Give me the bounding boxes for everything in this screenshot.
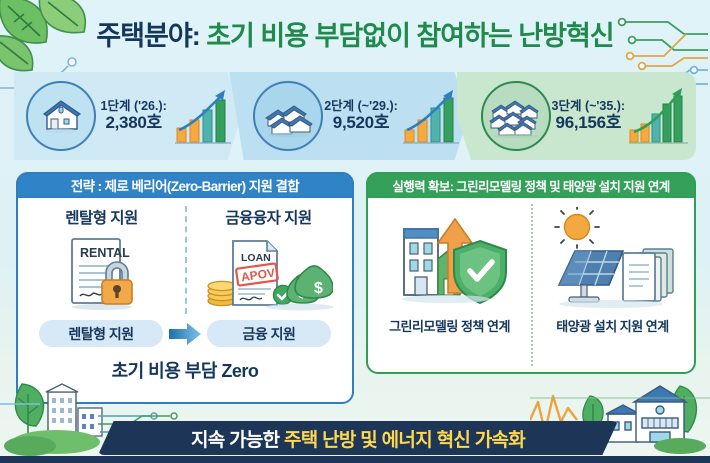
green-remodeling-column: 그린리모델링 정책 연계: [368, 200, 531, 372]
right-arrow-icon: [169, 323, 201, 345]
footer-text-accent: 주택 난방 및 에너지 혁신 가속화: [284, 430, 525, 451]
flow-from-pill[interactable]: 렌탈형 지원: [39, 320, 163, 347]
multiple-houses-icon: [253, 81, 323, 151]
loan-support-column: 금융융자 지원: [185, 200, 352, 318]
rental-document-lock-icon: RENTAL: [48, 233, 156, 313]
footer-banner: 지속 가능한 주택 난방 및 에너지 혁신 가속화: [98, 421, 618, 455]
stage-value: 2,380호: [94, 113, 173, 133]
single-house-icon: [26, 81, 96, 151]
loan-support-title: 금융융자 지원: [225, 206, 311, 228]
stage-label: 1단계 ('26.):: [94, 99, 173, 114]
stage-card-1: 1단계 ('26.): 2,380호: [14, 72, 241, 160]
stage-card-2: 2단계 (~'29.): 9,520호: [241, 72, 468, 160]
support-flow: 렌탈형 지원 금융 지원: [18, 320, 352, 347]
strategy-panel: 전략 : 제로 베리어(Zero-Barrier) 지원 결합 렌탈형 지원 R…: [16, 172, 354, 404]
stage-value: 96,156호: [549, 113, 628, 133]
green-remodeling-label: 그린리모델링 정책 연계: [389, 316, 510, 335]
strategy-panel-header: 전략 : 제로 베리어(Zero-Barrier) 지원 결합: [16, 172, 354, 198]
svg-text:RENTAL: RENTAL: [80, 246, 130, 260]
page-title: 주택분야: 초기 비용 부담없이 참여하는 난방혁신: [0, 14, 710, 53]
svg-text:$: $: [314, 280, 323, 297]
growth-bar-chart-icon: [173, 86, 235, 146]
growth-bar-chart-icon: [401, 86, 463, 146]
execution-panel: 실행력 확보: 그린리모델링 정책 및 태양광 설치 지원 연계: [366, 172, 696, 374]
bottom-strip: [0, 456, 710, 463]
solar-panel-sun-documents-icon: [545, 207, 681, 313]
infographic-root: 주택분야: 초기 비용 부담없이 참여하는 난방혁신: [0, 0, 710, 463]
loan-document-money-icon: LOAN APOV: [205, 233, 333, 313]
title-green-part: 초기 비용 부담없이 참여하는 난방혁신: [206, 21, 613, 51]
stage-value: 9,520호: [321, 113, 400, 133]
rental-support-title: 렌탈형 지원: [65, 206, 138, 228]
building-growth-shield-check-icon: [386, 207, 514, 313]
rental-support-column: 렌탈형 지원 RENTAL: [18, 200, 185, 318]
stage-label: 2단계 (~'29.):: [321, 99, 400, 114]
title-navy-part: 주택분야:: [96, 21, 199, 51]
solar-support-column: 태양광 설치 지원 연계: [531, 200, 694, 372]
zero-cost-conclusion: 초기 비용 부담 Zero: [18, 357, 352, 383]
svg-text:LOAN: LOAN: [241, 252, 271, 264]
right-panel-divider: [531, 204, 533, 366]
solar-support-label: 태양광 설치 지원 연계: [556, 316, 668, 335]
execution-panel-header: 실행력 확보: 그린리모델링 정책 및 태양광 설치 지원 연계: [366, 172, 696, 198]
growth-bar-chart-icon: [628, 86, 690, 146]
flow-to-pill[interactable]: 금융 지원: [207, 320, 331, 347]
panel-divider: [185, 206, 187, 314]
footer-text-white: 지속 가능한: [191, 430, 279, 451]
stage-label: 3단계 (~'35.):: [549, 99, 628, 114]
many-houses-icon: [481, 81, 551, 151]
stage-strip: 1단계 ('26.): 2,380호: [14, 72, 696, 160]
stage-card-3: 3단계 (~'35.): 96,156호: [469, 72, 696, 160]
